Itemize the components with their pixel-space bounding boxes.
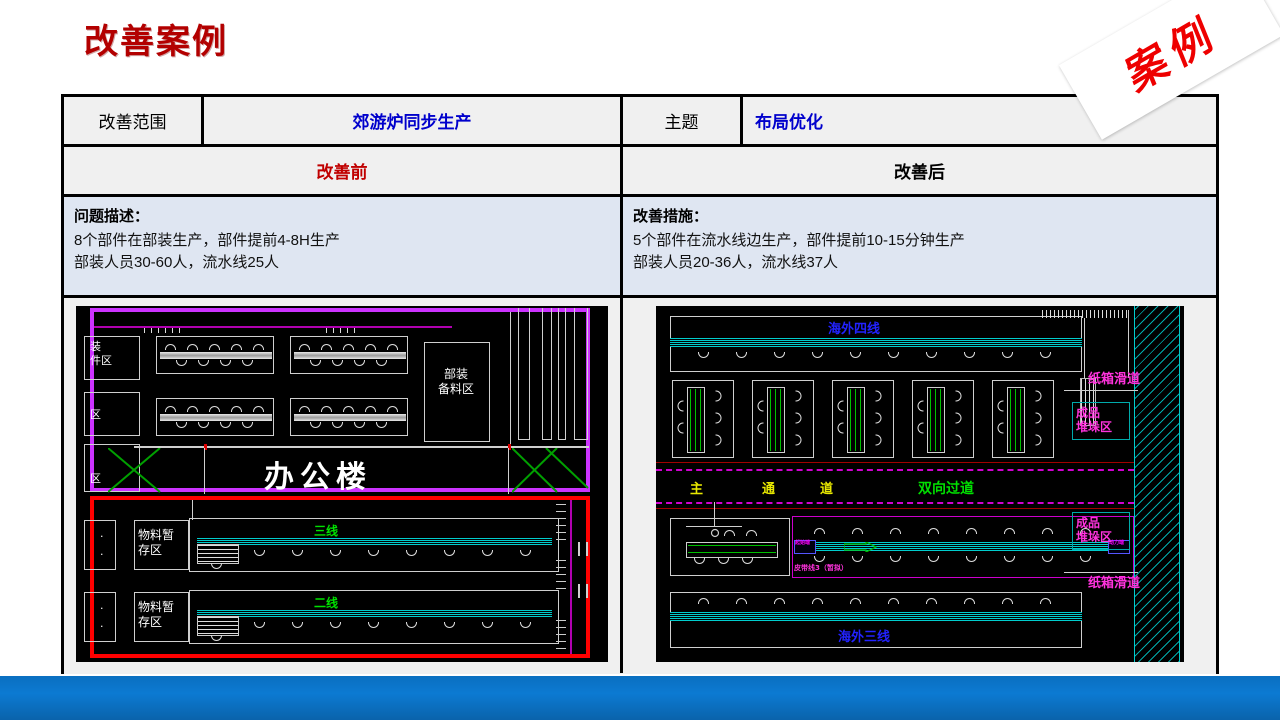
before-edge-label-top: 装 件区 (90, 340, 112, 368)
table-header-row: 改善范围 郊游炉同步生产 主题 布局优化 (64, 97, 1216, 147)
theme-label: 主题 (623, 97, 743, 144)
after-cad-image: 海外四线 (656, 306, 1184, 662)
prep-area-label: 部装 备料区 (438, 367, 474, 397)
scope-label: 改善范围 (64, 97, 204, 144)
countermeasure-cell: 改善措施： 5个部件在流水线边生产，部件提前10-15分钟生产 部装人员20-3… (623, 197, 1216, 295)
after-drawing-cell: 海外四线 (623, 298, 1216, 673)
countermeasure-line-1: 5个部件在流水线边生产，部件提前10-15分钟生产 (633, 230, 1206, 252)
carton-slide-bottom-label: 纸箱滑道 (1088, 576, 1140, 592)
overseas-line4-label: 海外四线 (828, 318, 880, 337)
before-edge-label-mid: 区 (90, 408, 101, 422)
wall-hatch (1134, 306, 1180, 662)
countermeasure-line-2: 部装人员20-36人，流水线37人 (633, 252, 1206, 274)
countermeasure-heading: 改善措施： (633, 205, 1206, 226)
storage-label-2: 物料暂 存区 (138, 600, 174, 630)
description-row: 问题描述： 8个部件在部装生产，部件提前4-8H生产 部装人员30-60人，流水… (64, 197, 1216, 298)
problem-description-cell: 问题描述： 8个部件在部装生产，部件提前4-8H生产 部装人员30-60人，流水… (64, 197, 623, 295)
before-header: 改善前 (64, 147, 623, 194)
storage-label-1: 物料暂 存区 (138, 528, 174, 558)
finished-stack-bottom-box: 成品 堆垛区 (1072, 512, 1130, 550)
case-table: 改善范围 郊游炉同步生产 主题 布局优化 改善前 改善后 问题描述： 8个部件在… (61, 94, 1219, 678)
carton-slide-top-label: 纸箱滑道 (1088, 372, 1140, 388)
office-label: 办公楼 (264, 452, 372, 496)
problem-line-2: 部装人员30-60人，流水线25人 (74, 252, 610, 274)
overseas-line3-label: 海外三线 (838, 626, 890, 645)
main-aisle-char-2: 通 (762, 478, 775, 497)
belt-line3-label: 皮带线3（暂拟） (794, 564, 848, 572)
green-hatch-left (108, 448, 208, 494)
main-aisle-char-3: 道 (820, 478, 833, 497)
drawing-row: 装 件区 区 区 (64, 298, 1216, 673)
before-drawing-cell: 装 件区 区 区 (64, 298, 623, 673)
line3-label: 三线 (314, 522, 338, 539)
before-edge-label-bot: 区 (90, 472, 101, 486)
two-way-passage-label: 双向过道 (918, 478, 974, 498)
before-cad-image: 装 件区 区 区 (76, 306, 608, 662)
scope-value: 郊游炉同步生产 (204, 97, 623, 144)
problem-line-1: 8个部件在部装生产，部件提前4-8H生产 (74, 230, 610, 252)
start-point-label: 起始端 (795, 540, 810, 546)
footer-bar (0, 674, 1280, 720)
case-stamp-text: 案例 (1117, 0, 1227, 104)
before-lower-zone: · · 物料暂 存区 三线 (90, 496, 590, 658)
slide-root: 改善案例 改善范围 郊游炉同步生产 主题 布局优化 改善前 改善后 问题描述： … (0, 0, 1280, 720)
before-after-row: 改善前 改善后 (64, 147, 1216, 197)
main-aisle-char-1: 主 (690, 478, 703, 497)
finished-stack-top-box: 成品 堆垛区 (1072, 402, 1130, 440)
after-header: 改善后 (623, 147, 1216, 194)
page-title: 改善案例 (84, 14, 228, 63)
flow-arrow-icon (844, 542, 884, 552)
problem-heading: 问题描述： (74, 205, 610, 226)
line2-label: 二线 (314, 594, 338, 611)
before-upper-zone: 装 件区 区 区 (90, 308, 590, 492)
green-hatch-right (512, 448, 592, 494)
